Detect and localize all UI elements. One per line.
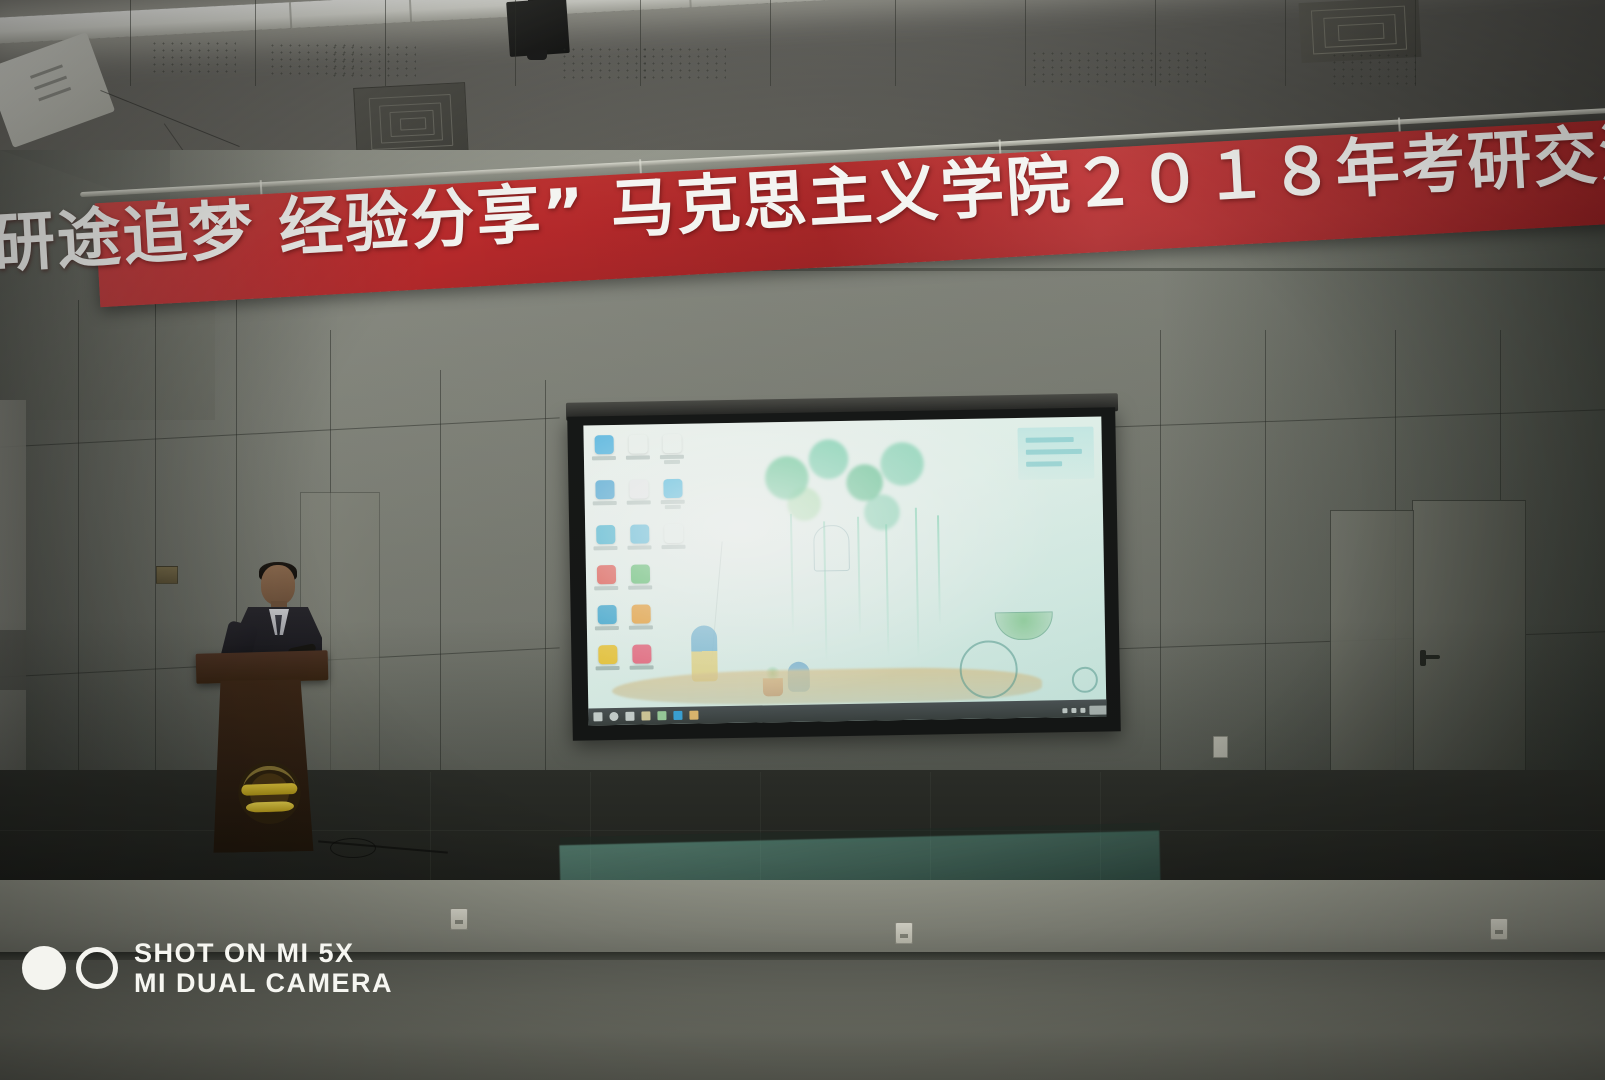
watermark-line-2: MI DUAL CAMERA	[134, 968, 393, 998]
power-outlet[interactable]	[450, 908, 468, 930]
projection-screen-frame	[567, 407, 1121, 741]
camera-lens-filled-icon	[22, 946, 66, 990]
camera-watermark: SHOT ON MI 5X MI DUAL CAMERA	[22, 938, 393, 998]
photo-scene: “研途追梦 经验分享” 马克思主义学院２０１８年考研交流会	[0, 0, 1605, 1080]
power-outlet[interactable]	[1490, 918, 1508, 940]
camera-lens-outline-icon	[76, 947, 118, 989]
podium-desktop	[196, 650, 329, 684]
floor-cable-loop	[330, 838, 376, 858]
stage-front-panel	[1415, 0, 1605, 86]
app-icon-orange[interactable]	[689, 711, 698, 720]
tray-icon[interactable]	[1071, 708, 1076, 713]
speaker-head	[261, 565, 295, 605]
podium-emblem	[237, 761, 301, 825]
projection-screen-display[interactable]	[583, 416, 1106, 725]
power-outlet[interactable]	[895, 922, 913, 944]
watermark-line-1: SHOT ON MI 5X	[134, 938, 393, 968]
stage-front-panel	[0, 0, 131, 86]
task-view-icon[interactable]	[625, 712, 634, 721]
tray-icon[interactable]	[1080, 708, 1085, 713]
edge-browser-icon[interactable]	[673, 711, 682, 720]
search-icon[interactable]	[609, 712, 618, 721]
stage-front-panel	[895, 0, 1026, 86]
app-icon-green[interactable]	[657, 711, 666, 720]
podium-body	[211, 679, 314, 853]
podium	[196, 652, 328, 852]
projection-glow	[583, 416, 1106, 725]
start-button[interactable]	[593, 712, 602, 721]
watermark-text: SHOT ON MI 5X MI DUAL CAMERA	[134, 938, 393, 998]
file-explorer-icon[interactable]	[641, 711, 650, 720]
dual-camera-lens-icon	[22, 946, 118, 990]
tray-icon[interactable]	[1062, 708, 1067, 713]
system-tray[interactable]	[1062, 705, 1106, 715]
stage-front-panel	[770, 0, 896, 86]
taskbar-clock[interactable]	[1089, 705, 1106, 714]
